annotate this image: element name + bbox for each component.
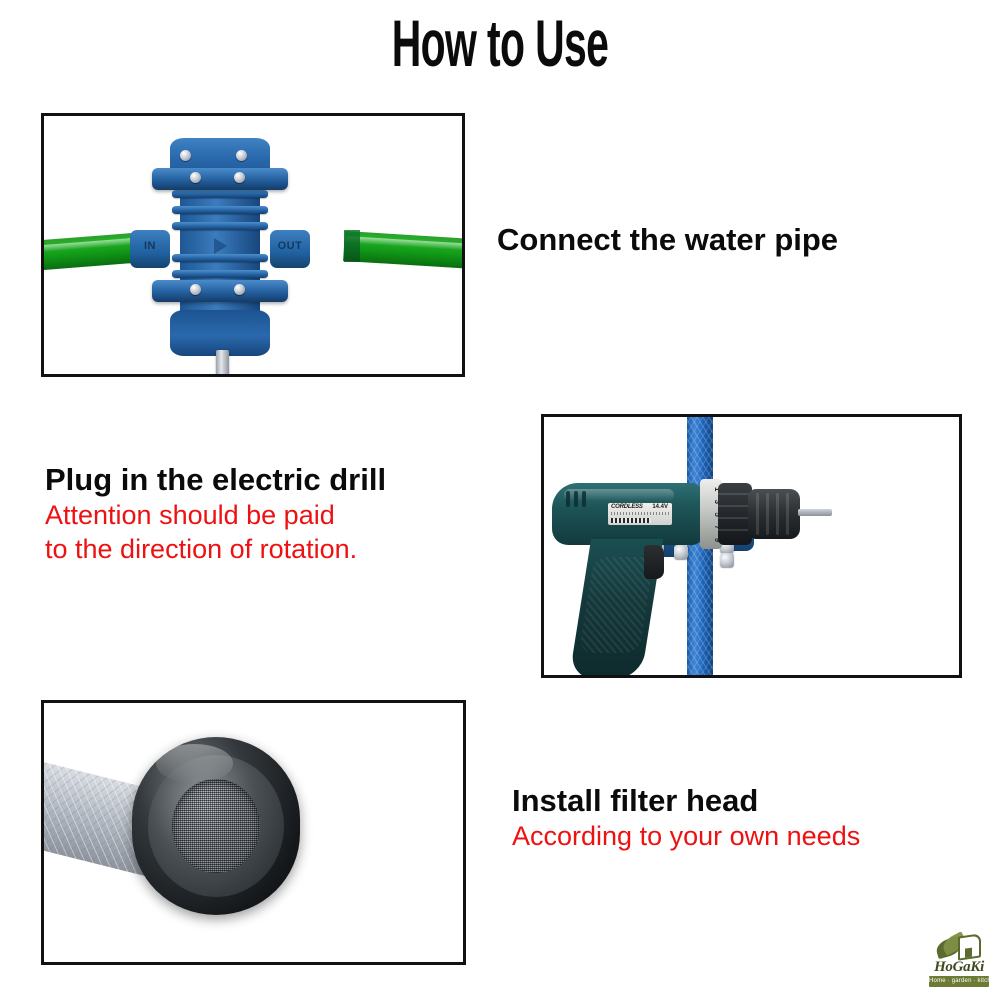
caption-heading: Connect the water pipe — [497, 222, 838, 258]
drill-brand-label: CORDLESS — [611, 504, 643, 510]
gearbox-rib — [718, 493, 752, 495]
drill-trigger — [644, 545, 664, 579]
filter-rim — [148, 755, 284, 897]
hose-sheen — [344, 236, 462, 251]
hose-filter-head-mesh-screen-photo — [44, 703, 463, 962]
gearbox-rib — [718, 505, 752, 507]
chuck-groove — [776, 493, 779, 535]
filter-head-housing — [132, 737, 300, 915]
pump-screw — [190, 284, 201, 295]
drill-voltage-label: 14.4V — [652, 504, 668, 510]
pump-fin — [172, 206, 268, 214]
drill-vent — [582, 491, 586, 507]
photo-panel-filter-head — [41, 700, 466, 965]
drill-gearbox — [718, 483, 752, 545]
pump-outlet-port: OUT — [270, 230, 310, 268]
chuck-groove — [766, 493, 769, 535]
flow-direction-arrow-icon — [214, 238, 227, 254]
caption-note-line-2: to the direction of rotation. — [45, 532, 386, 566]
brand-name: HoGaKi — [928, 959, 990, 975]
caption-install-filter-head: Install filter head According to your ow… — [512, 783, 860, 853]
photo-panel-connect-water-pipe: IN OUT — [41, 113, 465, 377]
pump-inlet-label: IN — [130, 240, 170, 252]
water-pump-body: IN OUT — [162, 138, 278, 356]
hose-band — [344, 230, 360, 262]
cordless-drill-attached-to-pump-photo: CORDLESS 14.4V 1 3 5 7 9 — [544, 417, 959, 675]
drill-grip-texture — [579, 557, 654, 653]
brand-logo: HoGaKi Home · garden · kitchen — [928, 934, 990, 992]
drill-chuck — [748, 489, 800, 539]
leaf-house-icon — [936, 934, 982, 960]
drill-fineprint — [611, 512, 669, 515]
water-pump-with-green-hose-photo: IN OUT — [44, 116, 462, 374]
gearbox-rib — [718, 529, 752, 531]
caption-note-line-1: Attention should be paid — [45, 498, 386, 532]
pump-outlet-label: OUT — [270, 240, 310, 252]
filter-mesh-screen — [172, 779, 259, 873]
green-hose-right — [343, 231, 462, 269]
pump-screw — [234, 284, 245, 295]
pump-drive-shaft — [216, 350, 229, 374]
pump-inlet-port: IN — [130, 230, 170, 268]
brand-tagline: Home · garden · kitchen — [929, 976, 989, 987]
drill-vent — [566, 491, 570, 507]
pump-upper-flange — [152, 168, 288, 190]
pump-fin — [172, 270, 268, 278]
drill-shaft-coupler — [798, 509, 832, 516]
chuck-groove — [786, 493, 789, 535]
cordless-drill: CORDLESS 14.4V 1 3 5 7 9 — [552, 469, 772, 675]
pump-screw — [180, 150, 191, 161]
caption-heading: Plug in the electric drill — [45, 462, 386, 498]
gearbox-rib — [718, 517, 752, 519]
chuck-groove — [756, 493, 759, 535]
page-title: How to Use — [190, 8, 810, 78]
drill-spec-plate: CORDLESS 14.4V — [608, 503, 672, 525]
caption-note: According to your own needs — [512, 819, 860, 853]
pump-fin — [172, 190, 268, 198]
pump-fin — [172, 222, 268, 230]
drill-vent — [574, 491, 578, 507]
pump-screw — [190, 172, 201, 183]
house-icon — [958, 933, 981, 960]
pump-screw — [236, 150, 247, 161]
caption-plug-in-electric-drill: Plug in the electric drill Attention sho… — [45, 462, 386, 566]
caption-heading: Install filter head — [512, 783, 860, 819]
photo-panel-electric-drill: CORDLESS 14.4V 1 3 5 7 9 — [541, 414, 962, 678]
drill-highlight — [564, 489, 674, 501]
drill-barcode — [611, 518, 651, 523]
pump-lower-flange — [152, 280, 288, 302]
pump-fin — [172, 254, 268, 262]
caption-connect-water-pipe: Connect the water pipe — [497, 222, 838, 258]
pump-screw — [234, 172, 245, 183]
